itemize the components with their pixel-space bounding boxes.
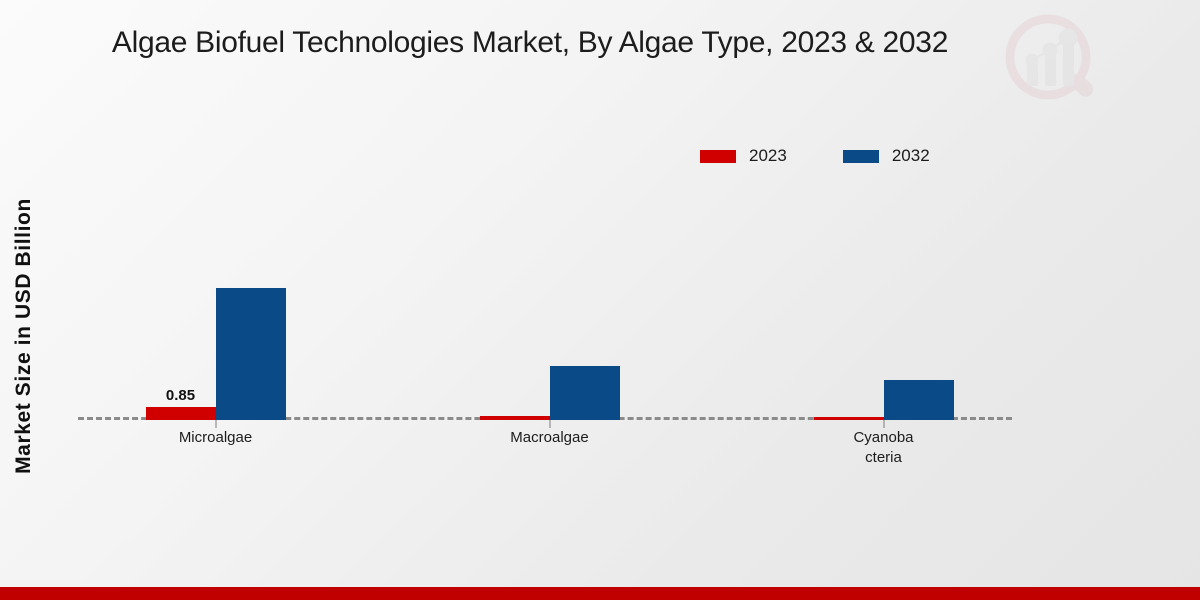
chart-title: Algae Biofuel Technologies Market, By Al… bbox=[0, 26, 1060, 60]
bar-microalgae-2023[interactable]: 0.85 bbox=[146, 407, 216, 420]
bar-cyanobacteria-2032[interactable] bbox=[884, 380, 954, 420]
legend-label-2023: 2023 bbox=[749, 146, 787, 166]
legend-item-2032[interactable]: 2032 bbox=[843, 146, 930, 166]
bar-macroalgae-2023[interactable] bbox=[480, 416, 550, 420]
x-tick-cyanobacteria bbox=[883, 420, 884, 428]
legend-item-2023[interactable]: 2023 bbox=[700, 146, 787, 166]
chart-canvas: Algae Biofuel Technologies Market, By Al… bbox=[0, 0, 1200, 600]
bar-microalgae-2032[interactable] bbox=[216, 288, 286, 420]
x-label-microalgae: Microalgae bbox=[136, 428, 296, 448]
footer-accent-bar bbox=[0, 587, 1200, 600]
legend-swatch-2023 bbox=[700, 150, 736, 163]
legend-swatch-2032 bbox=[843, 150, 879, 163]
bar-group-cyanobacteria: Cyanoba cteria bbox=[746, 170, 1021, 420]
plot-area: 0.85 Microalgae Macroalgae bbox=[78, 170, 1012, 420]
x-label-macroalgae: Macroalgae bbox=[470, 428, 630, 448]
y-axis-title: Market Size in USD Billion bbox=[12, 106, 36, 566]
x-tick-microalgae bbox=[215, 420, 216, 428]
bar-group-macroalgae: Macroalgae bbox=[412, 170, 687, 420]
bar-group-microalgae: 0.85 Microalgae bbox=[78, 170, 353, 420]
bar-cyanobacteria-2023[interactable] bbox=[814, 417, 884, 420]
bar-value-microalgae-2023: 0.85 bbox=[166, 387, 195, 404]
bar-macroalgae-2032[interactable] bbox=[550, 366, 620, 420]
chart-legend: 2023 2032 bbox=[700, 146, 930, 166]
legend-label-2032: 2032 bbox=[892, 146, 930, 166]
x-tick-macroalgae bbox=[549, 420, 550, 428]
x-label-cyanobacteria: Cyanoba cteria bbox=[804, 428, 964, 468]
